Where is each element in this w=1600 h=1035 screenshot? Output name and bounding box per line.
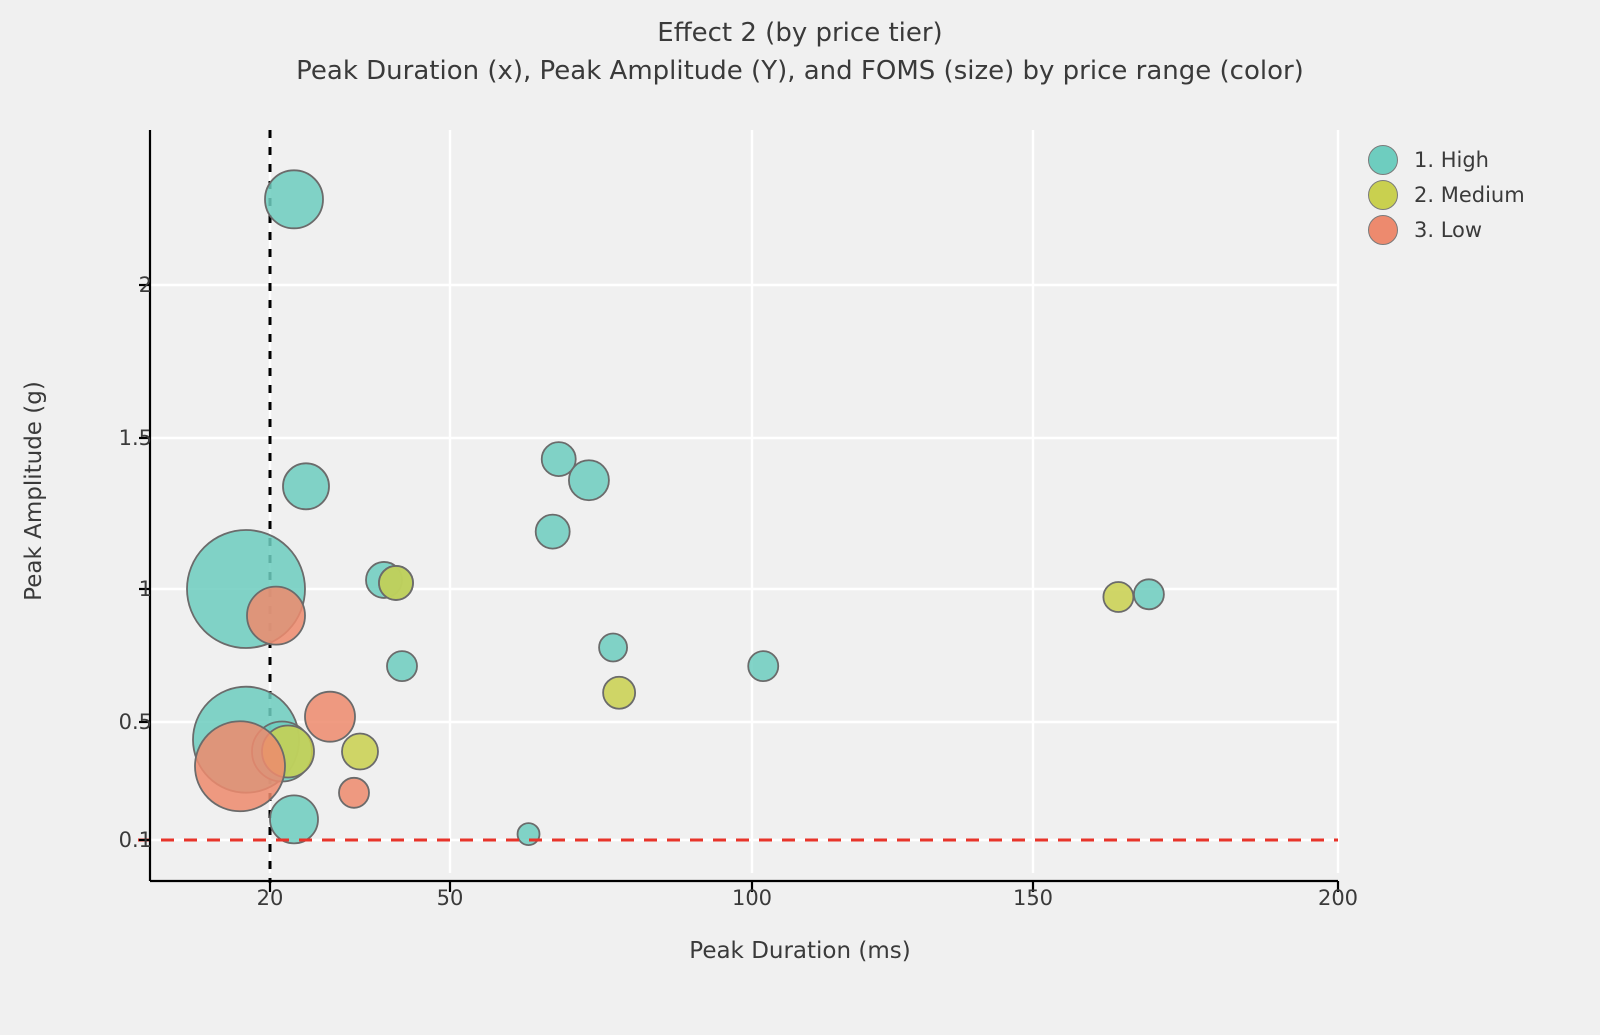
- scatter-point[interactable]: [342, 734, 378, 770]
- x-axis-tick-label: 20: [257, 886, 284, 910]
- legend: 1. High2. Medium3. Low: [1368, 142, 1525, 247]
- scatter-point[interactable]: [379, 566, 413, 600]
- scatter-point[interactable]: [265, 170, 323, 228]
- y-axis-tick-label: 1: [139, 577, 152, 601]
- scatter-point[interactable]: [518, 823, 540, 845]
- scatter-point[interactable]: [1134, 579, 1164, 609]
- legend-item-label: 2. Medium: [1414, 183, 1525, 207]
- scatter-point[interactable]: [305, 692, 355, 742]
- plot-background: [150, 130, 1338, 873]
- y-axis-title: Peak Amplitude (g): [21, 291, 47, 691]
- legend-item-label: 3. Low: [1414, 218, 1482, 242]
- scatter-point[interactable]: [569, 460, 609, 500]
- legend-color-swatch: [1368, 215, 1398, 245]
- scatter-point[interactable]: [247, 587, 305, 645]
- scatter-plot-area: [0, 0, 1600, 1035]
- x-axis-tick-label: 50: [437, 886, 464, 910]
- scatter-point[interactable]: [748, 651, 778, 681]
- legend-item[interactable]: 1. High: [1368, 142, 1525, 177]
- x-axis-tick-label: 100: [732, 886, 772, 910]
- y-axis-tick-label: 1.5: [119, 426, 152, 450]
- legend-item-label: 1. High: [1414, 148, 1489, 172]
- legend-item[interactable]: 3. Low: [1368, 212, 1525, 247]
- x-axis-title: Peak Duration (ms): [0, 938, 1600, 964]
- x-axis-tick-label: 200: [1318, 886, 1358, 910]
- legend-item[interactable]: 2. Medium: [1368, 177, 1525, 212]
- scatter-point[interactable]: [283, 463, 329, 509]
- legend-color-swatch: [1368, 180, 1398, 210]
- y-axis-tick-label: 2: [139, 273, 152, 297]
- scatter-point[interactable]: [195, 721, 285, 811]
- legend-color-swatch: [1368, 145, 1398, 175]
- scatter-point[interactable]: [599, 634, 627, 662]
- y-axis-tick-label: 0.5: [119, 710, 152, 734]
- x-axis-tick-label: 150: [1013, 886, 1053, 910]
- scatter-point[interactable]: [270, 795, 318, 843]
- scatter-point[interactable]: [536, 515, 570, 549]
- scatter-point[interactable]: [339, 778, 369, 808]
- chart-canvas: Effect 2 (by price tier) Peak Duration (…: [0, 0, 1600, 1035]
- scatter-point[interactable]: [387, 651, 417, 681]
- y-axis-tick-label: 0.1: [119, 828, 152, 852]
- scatter-point[interactable]: [603, 677, 635, 709]
- scatter-point[interactable]: [1103, 582, 1133, 612]
